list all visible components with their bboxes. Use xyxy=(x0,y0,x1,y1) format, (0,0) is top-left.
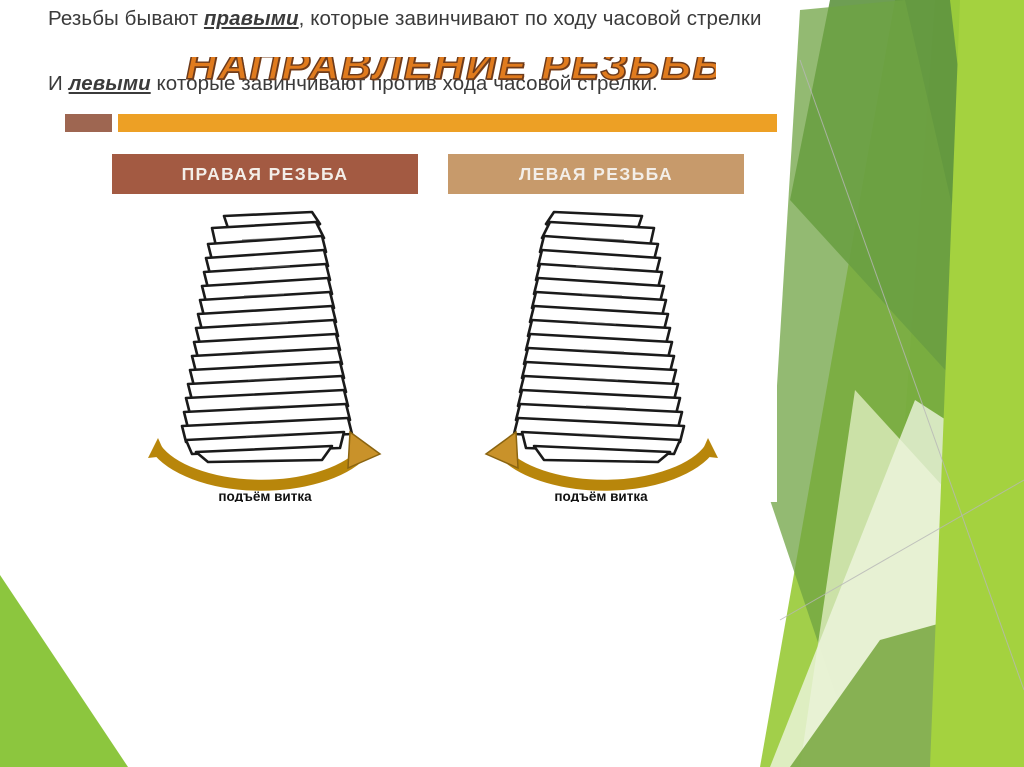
line1-part2: , которые завинчивают по ходу часовой ст… xyxy=(299,7,762,30)
counter-clockwise-arrowhead xyxy=(486,432,518,468)
line2-part1: И xyxy=(48,72,69,95)
decor-shape-pale-lower xyxy=(800,390,1024,767)
decor-shape-right-bright xyxy=(880,0,1024,767)
left-thread-svg xyxy=(448,210,754,502)
wordart-title: НАПРАВЛЕНИЕ РЕЗЬБЫ xyxy=(186,57,716,86)
counter-arrow-tail-right xyxy=(148,438,166,458)
wordart-title-clip: НАПРАВЛЕНИЕ РЕЗЬБЫ xyxy=(186,57,716,87)
illustration-panel: ПРАВАЯ РЕЗЬБА ЛЕВАЯ РЕЗЬБА xyxy=(65,110,777,502)
decor-shape-green-band xyxy=(790,600,1024,767)
decor-shape-pale-diag xyxy=(770,400,1024,767)
right-thread-caption: подъём витка xyxy=(112,489,418,502)
right-thread-svg xyxy=(112,210,418,502)
decor-shape-mid-dark xyxy=(770,0,1024,767)
rule-brown-block xyxy=(65,114,112,132)
body-text-line-1: Резьбы бывают правыми, которые завинчива… xyxy=(48,4,918,33)
label-right-thread-text: ПРАВАЯ РЕЗЬБА xyxy=(182,164,349,185)
label-right-thread: ПРАВАЯ РЕЗЬБА xyxy=(112,154,418,194)
line1-part1: Резьбы бывают xyxy=(48,7,204,30)
clockwise-arrowhead xyxy=(348,432,380,468)
line2-emphasis-levymi: левыми xyxy=(69,72,151,95)
decor-shape-bright-right-edge xyxy=(930,0,1024,767)
decor-shape-right-lime xyxy=(760,0,1024,767)
clockwise-arrow-tail-left xyxy=(700,438,718,458)
slide-canvas: Резьбы бывают правыми, которые завинчива… xyxy=(0,0,1024,767)
left-thread-caption: подъём витка xyxy=(448,489,754,502)
label-left-thread-text: ЛЕВАЯ РЕЗЬБА xyxy=(519,164,673,185)
rule-orange-bar xyxy=(118,114,777,132)
decor-hairline-upper xyxy=(800,60,1024,690)
decor-hairline-lower xyxy=(780,480,1024,620)
line1-emphasis-pravymi: правыми xyxy=(204,7,299,30)
left-thread-screw-body xyxy=(514,212,684,462)
header-rule-row xyxy=(65,114,777,132)
right-thread-screw-body xyxy=(182,212,352,462)
right-thread-illustration: подъём витка xyxy=(112,210,418,502)
decor-shape-bottom-left-wedge xyxy=(0,575,128,767)
label-left-thread: ЛЕВАЯ РЕЗЬБА xyxy=(448,154,744,194)
left-thread-illustration: подъём витка xyxy=(448,210,754,502)
